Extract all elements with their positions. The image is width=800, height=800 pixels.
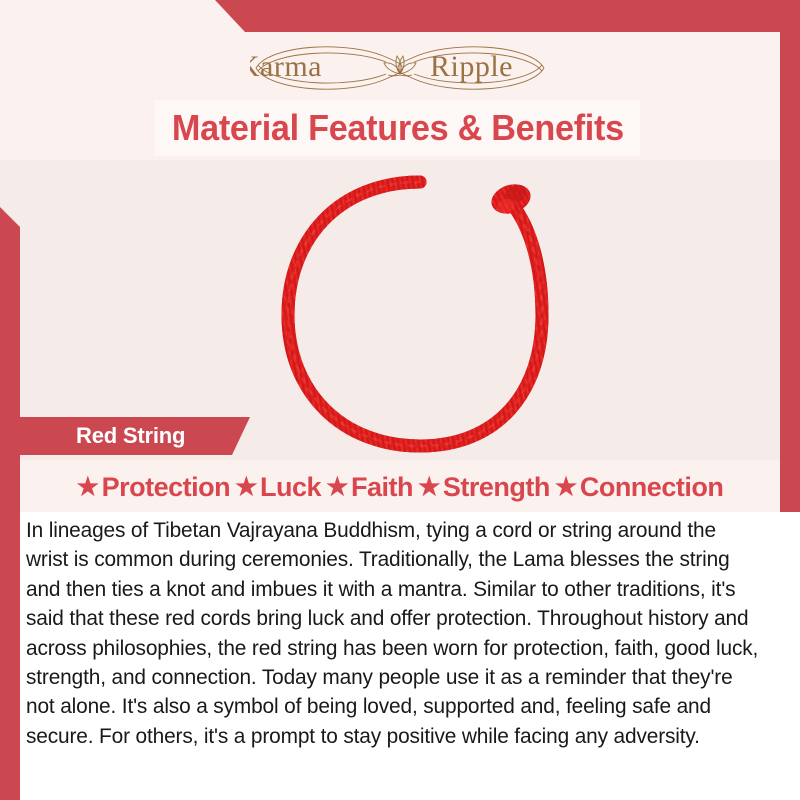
- lotus-flourish-icon: Karma Ripple: [250, 38, 550, 96]
- brand-name-right: Ripple: [430, 50, 513, 83]
- feature-list: ★ Protection ★ Luck ★ Faith ★ Strength ★…: [20, 466, 780, 508]
- star-icon: ★: [235, 475, 257, 500]
- product-name-banner: Red String: [18, 417, 250, 455]
- brand-name-left: Karma: [250, 50, 322, 83]
- star-icon: ★: [555, 475, 577, 500]
- feature-item-connection: ★ Connection: [555, 472, 723, 503]
- feature-label: Faith: [351, 472, 413, 503]
- bracelet-knot: [488, 180, 535, 219]
- page-title: Material Features & Benefits: [172, 107, 624, 149]
- feature-label: Connection: [580, 472, 724, 503]
- star-icon: ★: [418, 475, 440, 500]
- brand-logo: Karma Ripple: [0, 38, 800, 96]
- left-accent-band: [0, 195, 20, 800]
- star-icon: ★: [326, 475, 348, 500]
- product-image: [270, 170, 570, 460]
- feature-item-luck: ★ Luck: [235, 472, 321, 503]
- title-banner: Material Features & Benefits: [155, 100, 640, 156]
- product-name-label: Red String: [76, 423, 185, 449]
- feature-label: Luck: [260, 472, 321, 503]
- description-card: In lineages of Tibetan Vajrayana Buddhis…: [20, 512, 800, 800]
- feature-item-protection: ★ Protection: [77, 472, 230, 503]
- feature-label: Protection: [102, 472, 231, 503]
- infographic-page: Karma Ripple Material Features & Benefit…: [0, 0, 800, 800]
- feature-item-strength: ★ Strength: [418, 472, 550, 503]
- description-paragraph: In lineages of Tibetan Vajrayana Buddhis…: [26, 516, 759, 751]
- red-string-bracelet-illustration: [270, 170, 570, 460]
- feature-item-faith: ★ Faith: [326, 472, 413, 503]
- feature-label: Strength: [443, 472, 550, 503]
- star-icon: ★: [77, 475, 99, 500]
